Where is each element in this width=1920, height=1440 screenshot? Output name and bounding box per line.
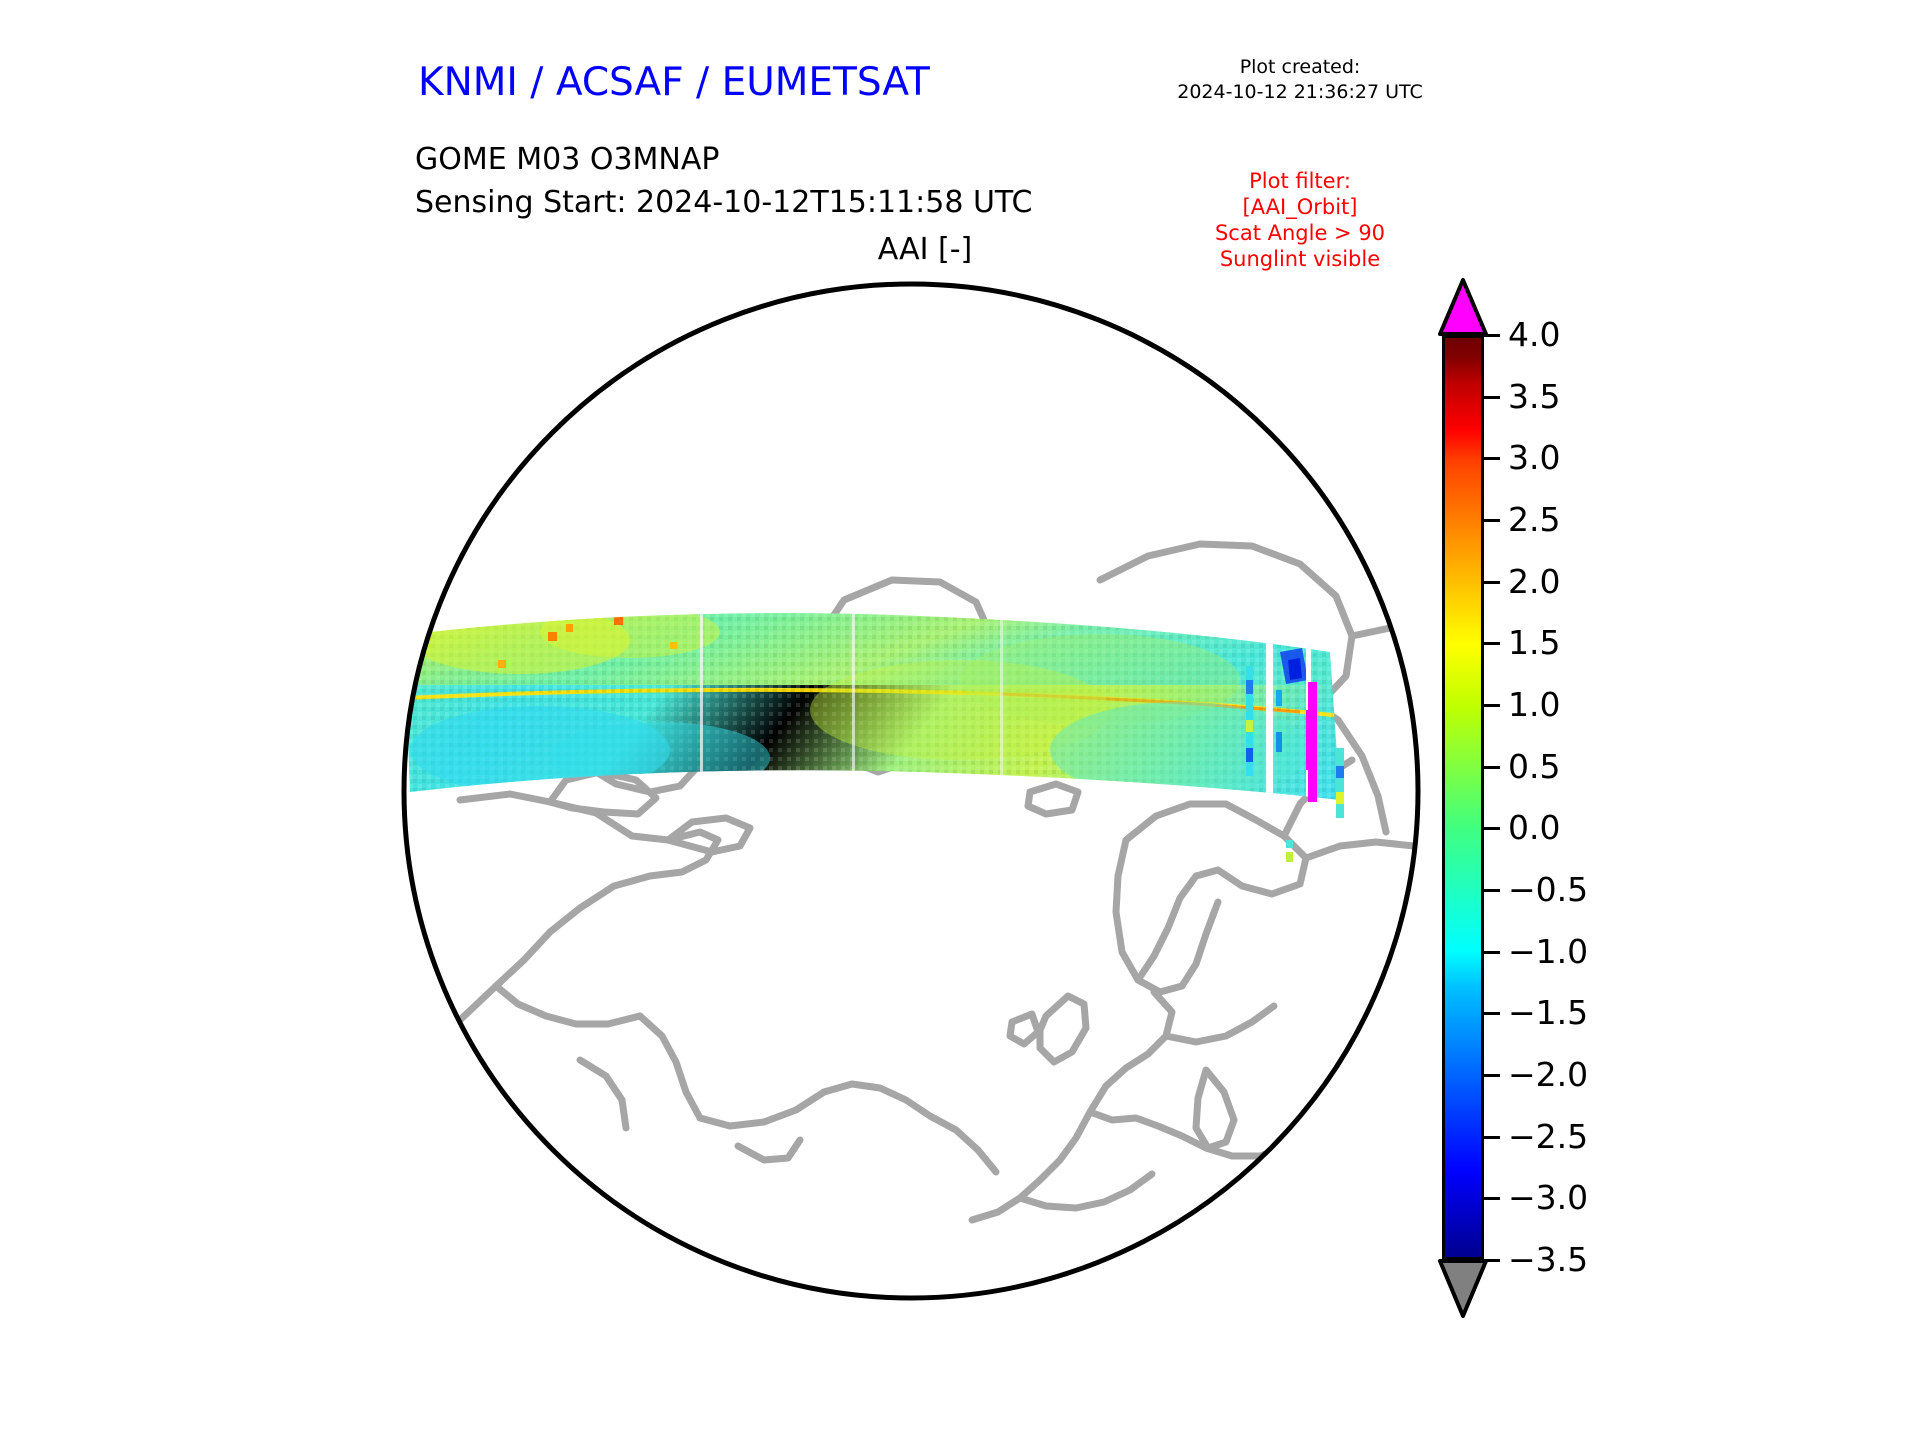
page-title: AAI [-] <box>720 232 1130 267</box>
plot-created-block: Plot created: 2024-10-12 21:36:27 UTC <box>1150 55 1450 105</box>
sensing-start-line: Sensing Start: 2024-10-12T15:11:58 UTC <box>415 181 1032 224</box>
colorbar-tick-label: 1.0 <box>1508 688 1560 721</box>
colorbar-tick-label: −3.0 <box>1508 1181 1588 1214</box>
instrument-line: GOME M03 O3MNAP <box>415 138 1032 181</box>
colorbar-tick-mark <box>1484 1074 1500 1077</box>
colorbar-tick-label: −0.5 <box>1508 873 1588 906</box>
organisation-title: KNMI / ACSAF / EUMETSAT <box>418 60 930 105</box>
colorbar[interactable]: 4.03.53.02.52.01.51.00.50.0−0.5−1.0−1.5−… <box>1430 280 1750 1310</box>
colorbar-tick-label: 2.0 <box>1508 565 1560 598</box>
colorbar-tick-label: 2.5 <box>1508 503 1560 536</box>
plot-filter-line-1: [AAI_Orbit] <box>1150 194 1450 220</box>
colorbar-tick-label: −2.5 <box>1508 1120 1588 1153</box>
colorbar-tick-mark <box>1484 457 1500 460</box>
colorbar-tick-label: 3.0 <box>1508 441 1560 474</box>
colorbar-tick-label: −1.0 <box>1508 935 1588 968</box>
colorbar-tick-mark <box>1484 334 1500 337</box>
colorbar-gradient[interactable] <box>1442 335 1484 1260</box>
colorbar-tick-mark <box>1484 1012 1500 1015</box>
colorbar-tick-mark <box>1484 1136 1500 1139</box>
colorbar-tick-mark <box>1484 1197 1500 1200</box>
instrument-info-block: GOME M03 O3MNAP Sensing Start: 2024-10-1… <box>415 138 1032 224</box>
colorbar-tick-label: −3.5 <box>1508 1243 1588 1276</box>
colorbar-tick-label: 3.5 <box>1508 380 1560 413</box>
map-panel[interactable] <box>400 280 1422 1302</box>
colorbar-tick-label: 0.5 <box>1508 750 1560 783</box>
plot-filter-line-2: Scat Angle > 90 <box>1150 220 1450 246</box>
colorbar-tick-mark <box>1484 704 1500 707</box>
colorbar-tick-mark <box>1484 827 1500 830</box>
colorbar-tick-label: −1.5 <box>1508 996 1588 1029</box>
colorbar-tick-mark <box>1484 642 1500 645</box>
plot-filter-line-3: Sunglint visible <box>1150 246 1450 272</box>
colorbar-tick-mark <box>1484 396 1500 399</box>
colorbar-tick-label: 1.5 <box>1508 626 1560 659</box>
plot-filter-block: Plot filter: [AAI_Orbit] Scat Angle > 90… <box>1150 168 1450 272</box>
colorbar-tick-mark <box>1484 519 1500 522</box>
colorbar-tick-mark <box>1484 1259 1500 1262</box>
colorbar-over-range-arrow <box>1438 277 1488 337</box>
plot-created-label: Plot created: <box>1150 55 1450 80</box>
plot-created-timestamp: 2024-10-12 21:36:27 UTC <box>1150 80 1450 105</box>
plot-filter-title: Plot filter: <box>1150 168 1450 194</box>
colorbar-tick-label: 0.0 <box>1508 811 1560 844</box>
colorbar-under-range-arrow <box>1438 1257 1488 1319</box>
colorbar-tick-label: −2.0 <box>1508 1058 1588 1091</box>
colorbar-tick-mark <box>1484 951 1500 954</box>
colorbar-tick-mark <box>1484 581 1500 584</box>
colorbar-tick-mark <box>1484 889 1500 892</box>
colorbar-tick-label: 4.0 <box>1508 318 1560 351</box>
colorbar-tick-mark <box>1484 766 1500 769</box>
